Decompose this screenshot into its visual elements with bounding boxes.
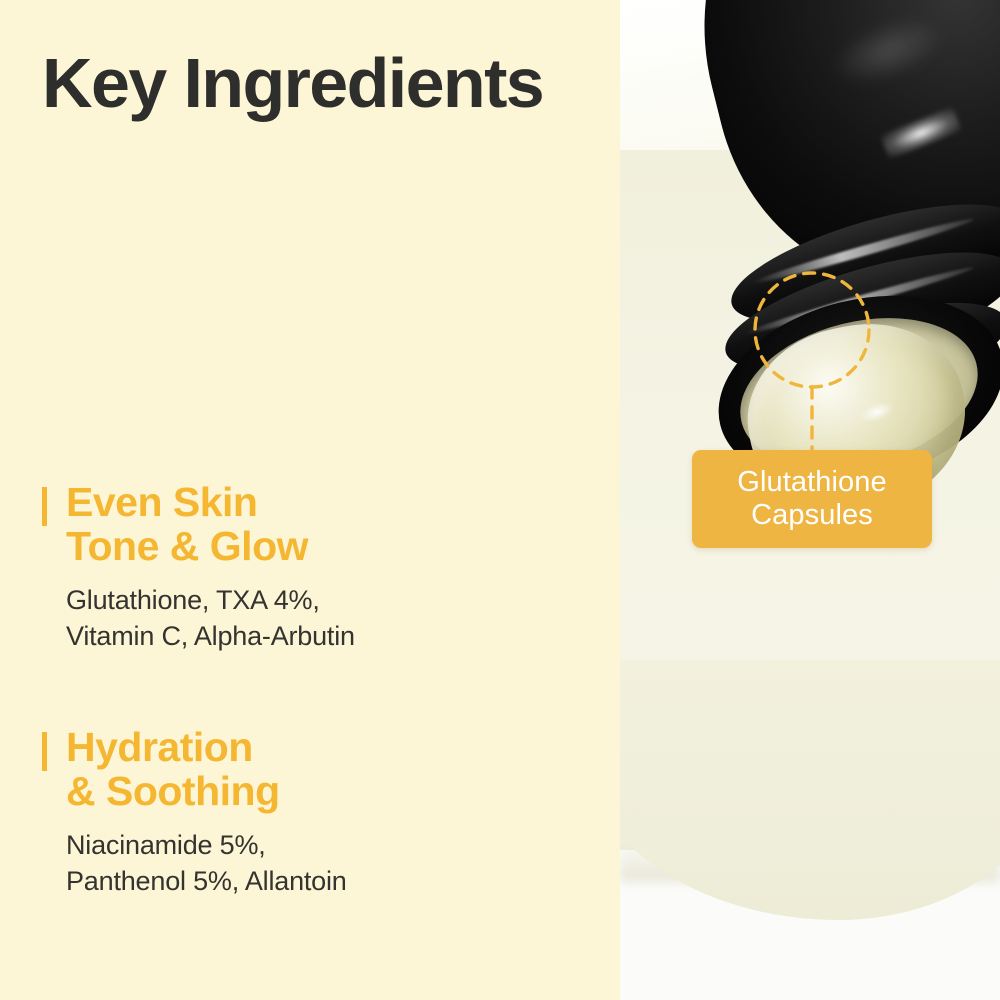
- section-heading: Even Skin Tone & Glow: [66, 481, 355, 569]
- accent-bar-icon: [42, 732, 47, 771]
- section-heading: Hydration & Soothing: [66, 726, 347, 814]
- section-heading-wrap: Hydration & Soothing: [42, 726, 347, 814]
- section-ingredients: Niacinamide 5%, Panthenol 5%, Allantoin: [42, 827, 347, 900]
- badge-line-2: Capsules: [751, 499, 873, 532]
- badge-line-1: Glutathione: [737, 466, 886, 499]
- glutathione-capsules-badge[interactable]: Glutathione Capsules: [692, 450, 932, 548]
- key-ingredients-graphic: Glutathione Capsules Key Ingredients Eve…: [0, 0, 1000, 1000]
- ingredient-section-hydration-soothing: Hydration & Soothing Niacinamide 5%, Pan…: [42, 726, 347, 900]
- section-ingredients: Glutathione, TXA 4%, Vitamin C, Alpha-Ar…: [42, 582, 355, 655]
- accent-bar-icon: [42, 487, 47, 526]
- section-heading-wrap: Even Skin Tone & Glow: [42, 481, 355, 569]
- page-title: Key Ingredients: [42, 48, 543, 118]
- ingredient-section-even-skin-tone: Even Skin Tone & Glow Glutathione, TXA 4…: [42, 481, 355, 655]
